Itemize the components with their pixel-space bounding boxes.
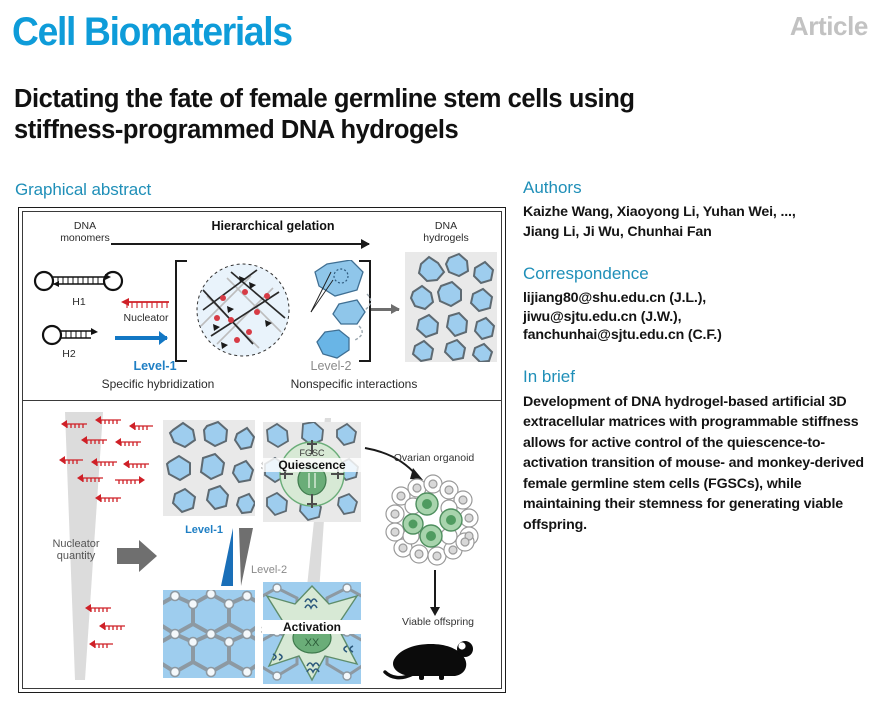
process-arrow-icon (117, 540, 159, 574)
offspring-arrow-icon (434, 570, 436, 608)
authors-block: Authors Kaizhe Wang, Xiaoyong Li, Yuhan … (523, 178, 871, 242)
h1-label: H1 (59, 296, 99, 308)
correspondence-block: Correspondence lijiang80@shu.edu.cn (J.L… (523, 264, 871, 345)
in-brief-text: Development of DNA hydrogel-based artifi… (523, 392, 871, 536)
dna-hydrogel-tile (405, 252, 497, 362)
h2-monomer-icon (41, 324, 107, 350)
graphical-abstract-figure: DNA monomers Hierarchical gelation DNA h… (18, 207, 506, 693)
nucleator-icon (117, 298, 173, 312)
level2-label-top: Level-2 (291, 360, 371, 372)
mouse-icon (383, 634, 489, 684)
fgsc-label: FGSC (281, 448, 343, 458)
chromosome-label: XX (263, 637, 361, 649)
viable-offspring-label: Viable offspring (373, 616, 502, 628)
correspondence-email-3[interactable]: fanchunhai@sjtu.edu.cn (C.F.) (523, 326, 871, 345)
nonspecific-aggregates-icon (305, 260, 377, 360)
hierarchical-gelation-label: Hierarchical gelation (143, 220, 403, 232)
gelation-arrow-icon (111, 243, 369, 245)
h2-label: H2 (49, 348, 89, 360)
activation-panel: Activation XX (263, 582, 361, 684)
panel-divider (23, 400, 501, 401)
bracket-left (175, 260, 187, 362)
dna-monomers-label: DNA monomers (45, 220, 125, 244)
masthead: Cell Biomaterials Article (12, 8, 872, 60)
page-title: Dictating the fate of female germline st… (14, 84, 734, 146)
correspondence-email-1[interactable]: lijiang80@shu.edu.cn (J.L.), (523, 289, 871, 308)
authors-heading: Authors (523, 178, 871, 198)
metadata-column: Authors Kaizhe Wang, Xiaoyong Li, Yuhan … (523, 178, 871, 535)
ovarian-organoid-icon (383, 474, 487, 566)
authors-line-2: Jiang Li, Ji Wu, Chunhai Fan (523, 223, 871, 243)
level1-label-bottom: Level-1 (163, 524, 223, 536)
in-brief-heading: In brief (523, 367, 871, 387)
level1-label-top: Level-1 (115, 360, 195, 372)
soft-hydrogel-tile (163, 420, 255, 516)
level2-caption: Nonspecific interactions (259, 378, 449, 390)
dna-hydrogels-label: DNA hydrogels (401, 220, 491, 244)
stiff-hydrogel-tile (163, 590, 255, 678)
nucleator-arrow-icon (115, 336, 167, 340)
nucleator-quantity-label: Nucleator quantity (37, 538, 115, 562)
assembly-arrow-icon (371, 308, 399, 311)
journal-logo: Cell Biomaterials (12, 8, 812, 56)
h1-monomer-icon (33, 267, 125, 295)
correspondence-heading: Correspondence (523, 264, 871, 284)
article-type-label: Article (790, 11, 868, 42)
graphical-abstract-heading: Graphical abstract (15, 180, 151, 200)
level1-caption: Specific hybridization (73, 378, 243, 390)
quiescence-label: Quiescence (262, 458, 362, 472)
authors-line-1: Kaizhe Wang, Xiaoyong Li, Yuhan Wei, ...… (523, 203, 871, 223)
quiescence-panel: FGSC Quiescence (263, 422, 361, 522)
activation-label: Activation (262, 620, 362, 634)
nucleator-label: Nucleator (111, 312, 181, 324)
ovarian-organoid-label: Ovarian organoid (369, 452, 499, 464)
correspondence-email-2[interactable]: jiwu@sjtu.edu.cn (J.W.), (523, 308, 871, 327)
in-brief-block: In brief Development of DNA hydrogel-bas… (523, 367, 871, 536)
dna-network-diagram (187, 262, 299, 358)
